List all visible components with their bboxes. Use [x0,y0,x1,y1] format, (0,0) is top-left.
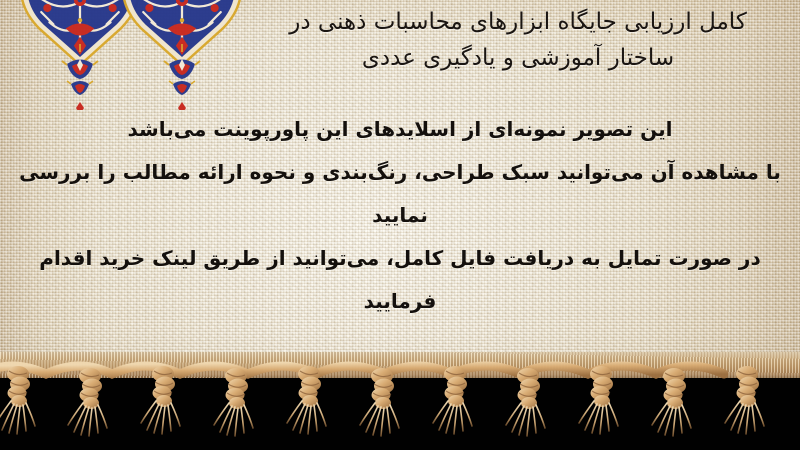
slide-body-text: این تصویر نمونه‌ای از اسلایدهای این پاور… [0,108,800,323]
carpet-fringe-band [0,352,800,450]
body-line-3: در صورت تمایل به دریافت فایل کامل، می‌تو… [0,237,800,323]
body-line-2: با مشاهده آن می‌توانید سبک طراحی، رنگ‌بن… [0,151,800,237]
title-line-2: ساختار آموزشی و یادگیری عددی [248,40,788,76]
tassel-group [0,352,800,450]
body-line-1: این تصویر نمونه‌ای از اسلایدهای این پاور… [0,108,800,151]
tassel-svg [0,352,800,450]
slide-title: کامل ارزیابی جایگاه ابزارهای محاسبات ذهن… [248,4,788,76]
title-line-1: کامل ارزیابی جایگاه ابزارهای محاسبات ذهن… [248,4,788,40]
slide-root: کامل ارزیابی جایگاه ابزارهای محاسبات ذهن… [0,0,800,450]
